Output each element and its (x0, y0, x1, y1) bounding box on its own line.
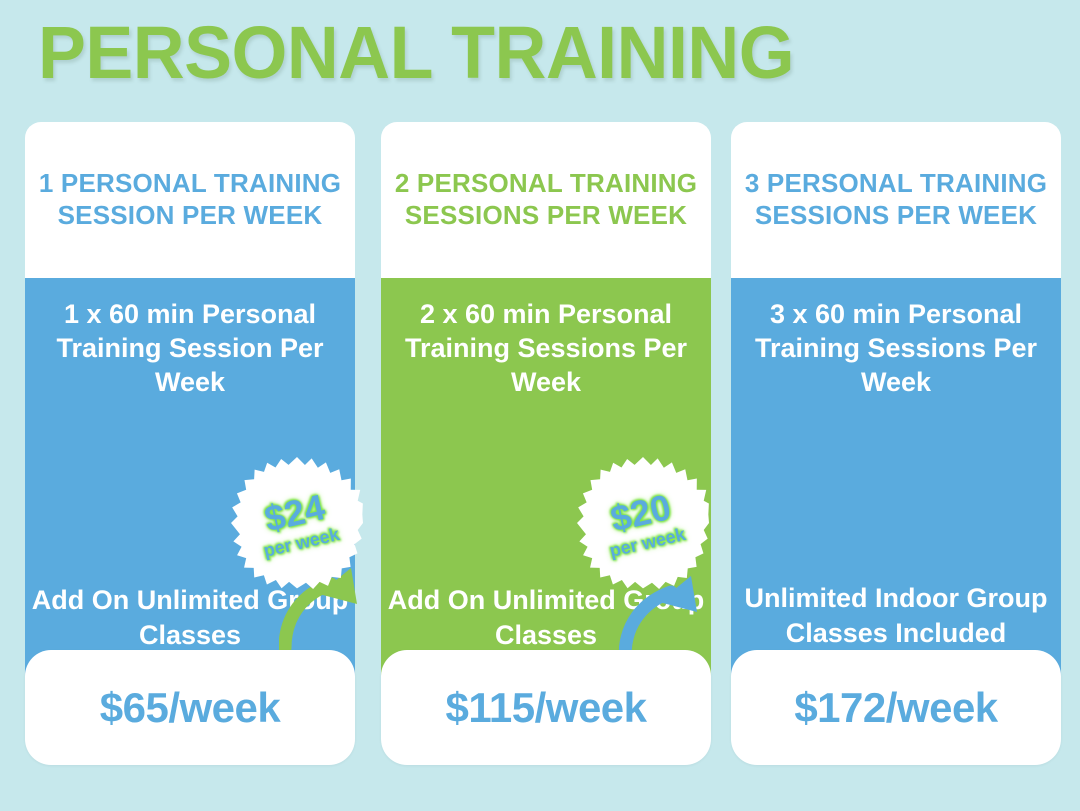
card-header-1: 1 PERSONAL TRAINING SESSION PER WEEK (25, 122, 355, 278)
footer-price-2: $115/week (445, 684, 646, 732)
footer-price-1: $65/week (100, 684, 281, 732)
pricing-card-2[interactable]: 2 PERSONAL TRAINING SESSIONS PER WEEK 2 … (381, 122, 711, 702)
card-body-3: 3 x 60 min Personal Training Sessions Pe… (731, 278, 1061, 702)
badge-content-2: $20 per week (564, 444, 722, 602)
card-body-top-2: 2 x 60 min Personal Training Sessions Pe… (381, 278, 711, 399)
card-header-text-1: 1 PERSONAL TRAINING SESSION PER WEEK (25, 168, 355, 232)
page-title: PERSONAL TRAINING (38, 14, 794, 92)
price-badge-2: $20 per week (577, 457, 709, 589)
pricing-card-3[interactable]: 3 PERSONAL TRAINING SESSIONS PER WEEK 3 … (731, 122, 1061, 702)
card-header-2: 2 PERSONAL TRAINING SESSIONS PER WEEK (381, 122, 711, 278)
card-body-1: 1 x 60 min Personal Training Session Per… (25, 278, 355, 702)
badge-content-1: $24 per week (218, 444, 376, 602)
card-body-2: 2 x 60 min Personal Training Sessions Pe… (381, 278, 711, 702)
pricing-card-list: 1 PERSONAL TRAINING SESSION PER WEEK 1 x… (0, 122, 1080, 772)
pricing-page: PERSONAL TRAINING 1 PERSONAL TRAINING SE… (0, 0, 1080, 811)
card-header-3: 3 PERSONAL TRAINING SESSIONS PER WEEK (731, 122, 1061, 278)
card-footer-2[interactable]: $115/week (381, 650, 711, 765)
card-body-top-3: 3 x 60 min Personal Training Sessions Pe… (731, 278, 1061, 399)
footer-price-3: $172/week (794, 684, 997, 732)
card-footer-3[interactable]: $172/week (731, 650, 1061, 765)
price-badge-1: $24 per week (231, 457, 363, 589)
card-header-text-2: 2 PERSONAL TRAINING SESSIONS PER WEEK (381, 168, 711, 232)
pricing-card-1[interactable]: 1 PERSONAL TRAINING SESSION PER WEEK 1 x… (25, 122, 355, 702)
card-body-bottom-3: Unlimited Indoor Group Classes Included (731, 581, 1061, 650)
card-footer-1[interactable]: $65/week (25, 650, 355, 765)
card-header-text-3: 3 PERSONAL TRAINING SESSIONS PER WEEK (731, 168, 1061, 232)
card-body-top-1: 1 x 60 min Personal Training Session Per… (25, 278, 355, 399)
